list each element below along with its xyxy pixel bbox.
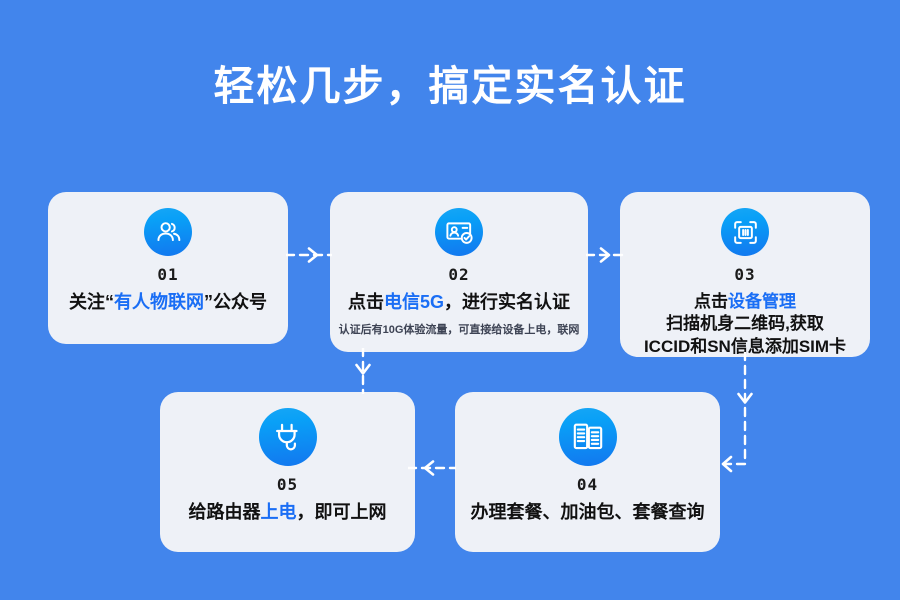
step-text-after: ”公众号: [204, 292, 267, 312]
step-text-highlight: 有人物联网: [114, 292, 204, 312]
step-text-before: 点击: [348, 292, 384, 312]
step-card-02[interactable]: 02 点击电信5G，进行实名认证 认证后有10G体验流量，可直接给设备上电，联网: [330, 192, 588, 352]
power-plug-icon: [259, 408, 317, 466]
scan-barcode-icon: [721, 208, 769, 256]
step-text-highlight: 上电: [261, 502, 297, 522]
step-card-03[interactable]: 03 点击设备管理 扫描机身二维码,获取 ICCID和SN信息添加SIM卡: [620, 192, 870, 357]
step-text-before: 给路由器: [189, 502, 261, 522]
arrow-step1-to-step2: [286, 245, 332, 265]
step-card-text: 关注“有人物联网”公众号: [61, 291, 275, 315]
step-text-highlight: 设备管理: [728, 292, 796, 311]
step-card-04[interactable]: 04 办理套餐、加油包、套餐查询: [455, 392, 720, 552]
step-card-text: 给路由器上电，即可上网: [181, 501, 395, 525]
step-number: 03: [734, 265, 755, 284]
arrow-step2-to-step3: [586, 245, 624, 265]
step-card-text: 办理套餐、加油包、套餐查询: [463, 501, 713, 525]
step-number: 02: [448, 265, 469, 284]
step-text-after: ，即可上网: [297, 502, 387, 522]
users-icon: [144, 208, 192, 256]
step-text-line2: 扫描机身二维码,获取: [666, 314, 824, 333]
step-card-subtitle: 认证后有10G体验流量，可直接给设备上电，联网: [339, 321, 580, 337]
step-number: 05: [277, 475, 298, 494]
step-number: 01: [157, 265, 178, 284]
step-card-05[interactable]: 05 给路由器上电，即可上网: [160, 392, 415, 552]
step-text-before: 点击: [694, 292, 728, 311]
step-text-highlight: 电信5G: [384, 292, 444, 312]
page-title: 轻松几步，搞定实名认证: [0, 62, 900, 111]
step-text-before: 关注“: [69, 292, 114, 312]
arrow-step4-to-step5: [408, 458, 456, 478]
step-number: 04: [577, 475, 598, 494]
id-card-verified-icon: [435, 208, 483, 256]
step-card-text: 点击设备管理 扫描机身二维码,获取 ICCID和SN信息添加SIM卡: [636, 291, 854, 358]
documents-icon: [559, 408, 617, 466]
step-text-after: ，进行实名认证: [444, 292, 570, 312]
arrow-step3-to-step4: [700, 352, 770, 474]
step-card-text: 点击电信5G，进行实名认证: [340, 291, 578, 315]
step-card-01[interactable]: 01 关注“有人物联网”公众号: [48, 192, 288, 344]
step-text-before: 办理套餐、加油包、套餐查询: [471, 502, 705, 522]
arrow-step2-down: [350, 348, 376, 394]
